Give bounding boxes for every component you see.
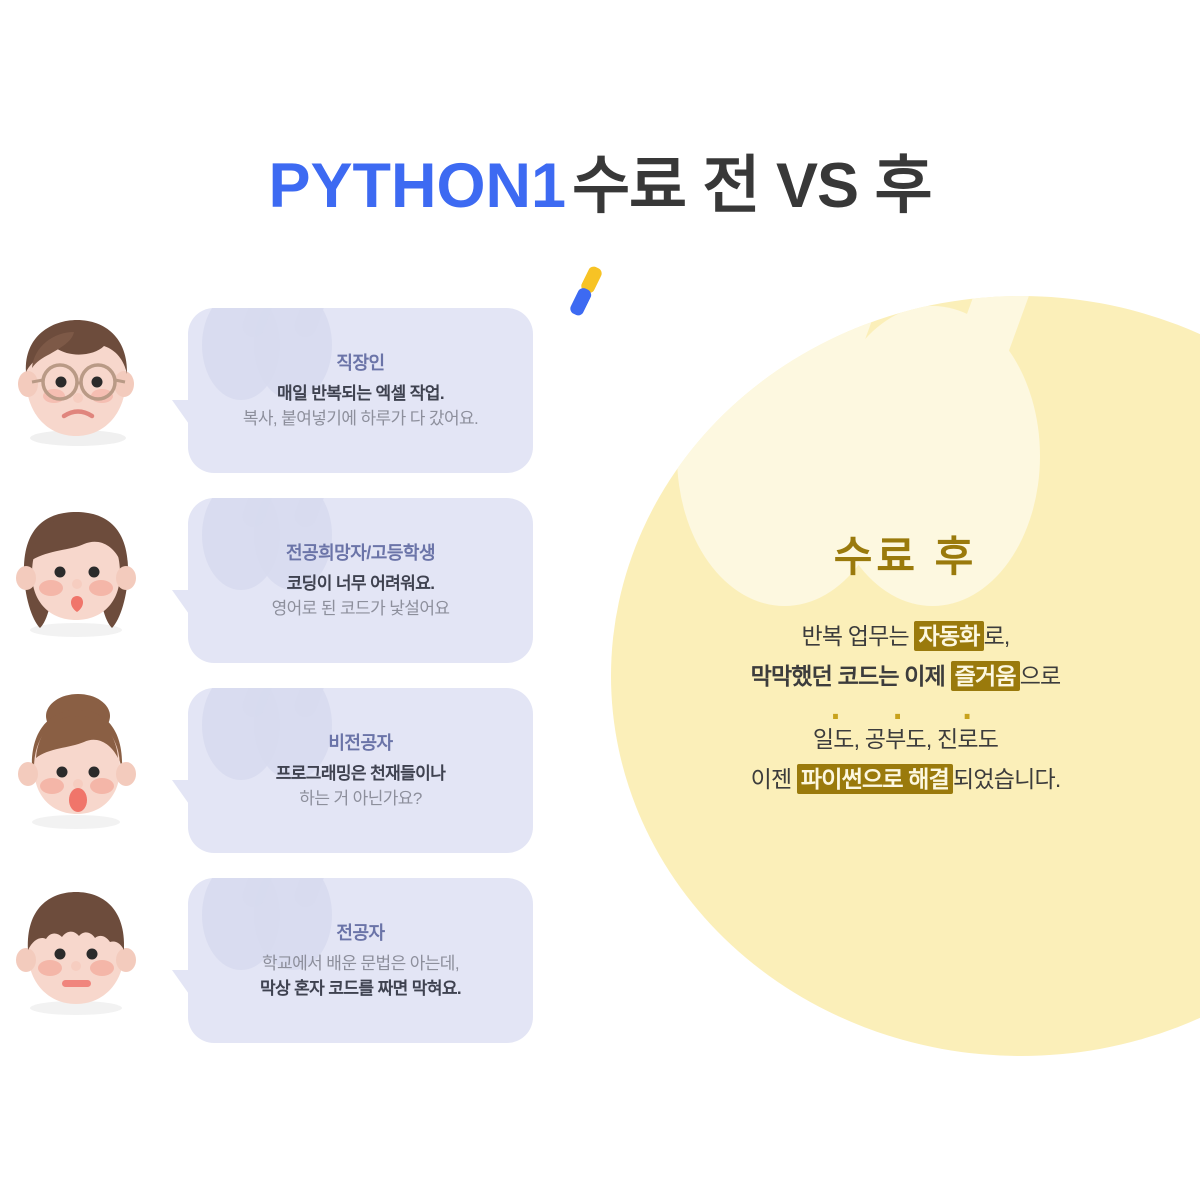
title-brand: PYTHON1 [269, 151, 567, 221]
poster-canvas: PYTHON1수료 전 VS 후 [0, 0, 1200, 1177]
after-p1-l1-b: 로, [984, 623, 1010, 649]
after-paragraph-1-line-2: 막막했던 코드는 이제 즐거움으로 [611, 656, 1200, 696]
testimonial-line-2: 막상 혼자 코드를 짜면 막혀요. [208, 977, 513, 1002]
testimonial-row: 비전공자 프로그래밍은 천재들이나 하는 거 아닌가요? [0, 680, 560, 870]
after-p1-l2-b: 으로 [1020, 663, 1061, 689]
after-p2-l2-b: 되었습니다. [953, 766, 1060, 792]
non-major-woman-avatar [8, 690, 143, 830]
after-p1-l1-a: 반복 업무는 [801, 623, 914, 649]
after-p2-word-3: 진로도 [937, 726, 998, 752]
speech-bubble: 전공희망자/고등학생 코딩이 너무 어려워요. 영어로 된 코드가 낯설어요 [188, 498, 533, 663]
testimonial-row: 전공자 학교에서 배운 문법은 아는데, 막상 혼자 코드를 짜면 막혀요. [0, 870, 560, 1060]
after-p2-word-1: 일도, [813, 726, 859, 752]
after-p1-l2-highlight: 즐거움 [951, 661, 1020, 691]
title-rest: 수료 전 VS 후 [572, 151, 931, 221]
pen-accent-icon [568, 265, 603, 318]
after-p2-l2-a: 이젠 [751, 766, 797, 792]
after-content: 수료 후 반복 업무는 자동화로, 막막했던 코드는 이제 즐거움으로 일도, … [611, 296, 1200, 1056]
testimonial-title: 전공희망자/고등학생 [208, 542, 513, 565]
testimonial-line-1: 코딩이 너무 어려워요. [208, 572, 513, 597]
speech-bubble: 전공자 학교에서 배운 문법은 아는데, 막상 혼자 코드를 짜면 막혀요. [188, 878, 533, 1043]
testimonial-title: 전공자 [208, 922, 513, 945]
high-school-student-avatar [8, 500, 143, 640]
testimonial-row: 직장인 매일 반복되는 엑셀 작업. 복사, 붙여넣기에 하루가 다 갔어요. [0, 300, 560, 490]
testimonial-line-1: 학교에서 배운 문법은 아는데, [208, 952, 513, 977]
after-p2-word-2: 공부도, [865, 726, 932, 752]
after-paragraph-1-line-1: 반복 업무는 자동화로, [611, 616, 1200, 656]
testimonial-line-2: 복사, 붙여넣기에 하루가 다 갔어요. [208, 407, 513, 432]
after-p1-l2-a: 막막했던 코드는 이제 [751, 663, 951, 689]
testimonial-line-2: 영어로 된 코드가 낯설어요 [208, 597, 513, 622]
testimonial-line-1: 프로그래밍은 천재들이나 [208, 762, 513, 787]
speech-bubble: 비전공자 프로그래밍은 천재들이나 하는 거 아닌가요? [188, 688, 533, 853]
testimonial-title: 직장인 [208, 352, 513, 375]
speech-bubble: 직장인 매일 반복되는 엑셀 작업. 복사, 붙여넣기에 하루가 다 갔어요. [188, 308, 533, 473]
testimonial-line-1: 매일 반복되는 엑셀 작업. [208, 382, 513, 407]
after-p1-l1-highlight: 자동화 [914, 621, 983, 651]
page-title: PYTHON1수료 전 VS 후 [0, 155, 1200, 218]
after-heading: 수료 후 [611, 534, 1200, 580]
after-p2-l2-highlight: 파이썬으로 해결 [797, 764, 953, 794]
after-paragraph-2-line-2: 이젠 파이썬으로 해결되었습니다. [611, 759, 1200, 799]
testimonial-title: 비전공자 [208, 732, 513, 755]
testimonial-row: 전공희망자/고등학생 코딩이 너무 어려워요. 영어로 된 코드가 낯설어요 [0, 490, 560, 680]
before-column: 직장인 매일 반복되는 엑셀 작업. 복사, 붙여넣기에 하루가 다 갔어요. [0, 300, 560, 1060]
testimonial-line-2: 하는 거 아닌가요? [208, 787, 513, 812]
major-student-avatar [8, 880, 143, 1020]
after-paragraph-2-line-1: 일도, 공부도, 진로도 [611, 719, 1200, 759]
office-worker-avatar [8, 310, 143, 450]
